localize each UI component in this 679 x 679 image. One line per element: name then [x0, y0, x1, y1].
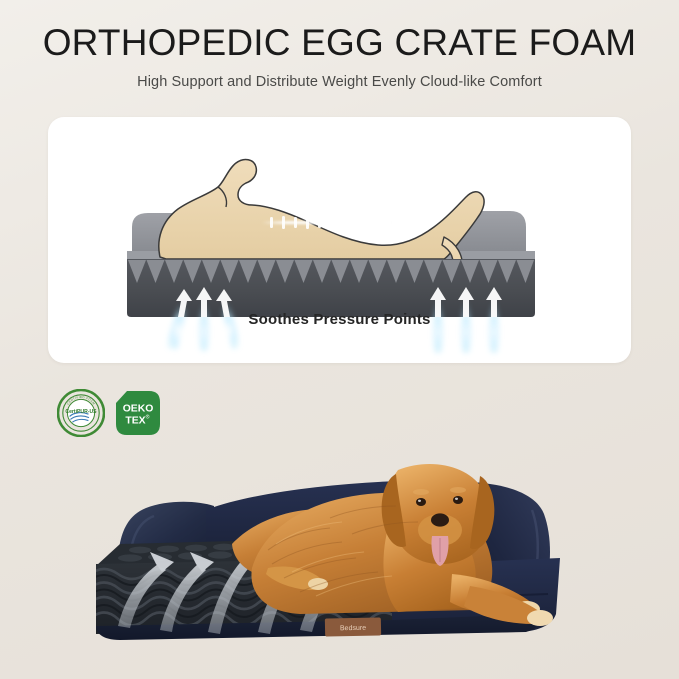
- dog-bed-photo-illustration: Bedsure: [0, 418, 679, 663]
- page-title: ORTHOPEDIC EGG CRATE FOAM: [0, 22, 679, 63]
- egg-crate-foam-slab: [127, 259, 535, 317]
- brand-tag: Bedsure: [325, 617, 381, 636]
- svg-text:CertiPUR-US: CertiPUR-US: [65, 409, 97, 415]
- oeko-tex-label: OEKO: [162, 389, 163, 390]
- diagram-caption: Soothes Pressure Points: [48, 311, 631, 328]
- svg-text:OEKO: OEKO: [123, 404, 154, 415]
- product-infographic: ORTHOPEDIC EGG CRATE FOAM High Support a…: [0, 0, 679, 679]
- page-subtitle: High Support and Distribute Weight Evenl…: [0, 74, 679, 90]
- brand-tag-text: Bedsure: [340, 625, 366, 633]
- product-photo: Bedsure: [0, 418, 679, 663]
- diagram-card: Soothes Pressure Points: [48, 117, 631, 363]
- certipur-us-label: CertiPUR-US: [105, 389, 106, 390]
- header: ORTHOPEDIC EGG CRATE FOAM High Support a…: [0, 0, 679, 90]
